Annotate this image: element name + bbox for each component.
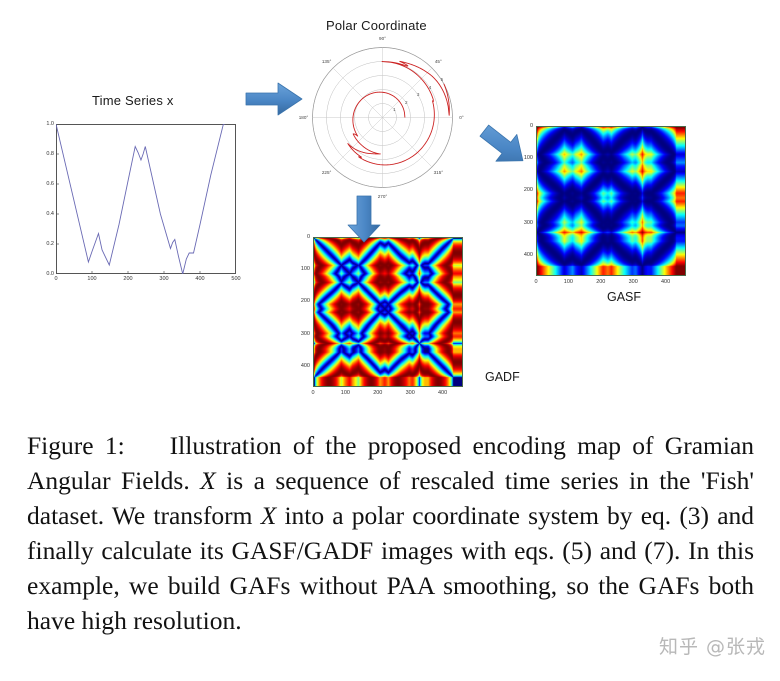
heatmap-xtick: 0 — [524, 279, 548, 285]
polar-angle-tick: 315° — [429, 170, 447, 175]
gasf-label: GASF — [607, 290, 641, 304]
timeseries-ytick: 0.2 — [32, 241, 54, 247]
polar-radial-tick: 4 — [426, 85, 434, 90]
heatmap-ytick: 100 — [291, 266, 310, 272]
timeseries-title: Time Series x — [92, 93, 174, 108]
polar-radial-tick: 5 — [438, 77, 446, 82]
heatmap-xtick: 0 — [301, 390, 325, 396]
heatmap-ytick: 200 — [291, 298, 310, 304]
gadf-canvas — [314, 238, 463, 387]
timeseries-line — [56, 124, 236, 274]
figure-caption: Figure 1: Illustration of the proposed e… — [27, 428, 754, 638]
polar-plot: 0°45°90°135°180°225°270°315°12345 — [305, 40, 460, 195]
watermark: 知乎 @张戎 — [659, 632, 766, 659]
heatmap-ytick: 200 — [514, 187, 533, 193]
arrow-down-icon — [344, 194, 384, 244]
heatmap-xtick: 100 — [333, 390, 357, 396]
polar-angle-tick: 90° — [374, 36, 392, 41]
gadf-heatmap — [313, 237, 463, 387]
heatmap-xtick: 300 — [621, 279, 645, 285]
heatmap-ytick: 300 — [514, 220, 533, 226]
heatmap-ytick: 400 — [291, 363, 310, 369]
figure-illustration: Time Series x 0.00.20.40.60.81.001002003… — [0, 0, 780, 420]
gasf-plot: 01002003004000100200300400 — [536, 126, 686, 276]
polar-radial-tick: 2 — [402, 100, 410, 105]
caption-variable-2: X — [261, 501, 277, 530]
polar-title: Polar Coordinate — [326, 18, 427, 33]
timeseries-xtick: 0 — [44, 276, 68, 282]
timeseries-xtick: 400 — [188, 276, 212, 282]
heatmap-xtick: 400 — [654, 279, 678, 285]
timeseries-ytick: 1.0 — [32, 121, 54, 127]
caption-variable-1: X — [200, 466, 216, 495]
timeseries-plot: 0.00.20.40.60.81.00100200300400500 — [56, 124, 236, 274]
gadf-plot: 01002003004000100200300400 — [313, 237, 463, 387]
polar-angle-tick: 45° — [429, 59, 447, 64]
polar-angle-tick: 135° — [318, 59, 336, 64]
timeseries-xtick: 200 — [116, 276, 140, 282]
timeseries-xtick: 500 — [224, 276, 248, 282]
heatmap-ytick: 300 — [291, 331, 310, 337]
heatmap-xtick: 200 — [366, 390, 390, 396]
timeseries-ytick: 0.4 — [32, 211, 54, 217]
timeseries-ytick: 0.8 — [32, 151, 54, 157]
arrow-down-right-icon — [477, 122, 531, 170]
timeseries-xtick: 300 — [152, 276, 176, 282]
heatmap-xtick: 300 — [398, 390, 422, 396]
gasf-canvas — [537, 127, 686, 276]
gadf-label: GADF — [485, 370, 520, 384]
polar-angle-tick: 0° — [453, 115, 471, 120]
caption-figure-number: Figure 1: — [27, 431, 125, 460]
polar-radial-tick: 3 — [414, 92, 422, 97]
timeseries-xtick: 100 — [80, 276, 104, 282]
gasf-heatmap — [536, 126, 686, 276]
polar-angle-tick: 225° — [318, 170, 336, 175]
heatmap-xtick: 100 — [556, 279, 580, 285]
heatmap-xtick: 400 — [431, 390, 455, 396]
heatmap-ytick: 400 — [514, 252, 533, 258]
timeseries-ytick: 0.6 — [32, 181, 54, 187]
arrow-right-icon — [244, 78, 306, 120]
heatmap-ytick: 0 — [291, 234, 310, 240]
polar-radial-tick: 1 — [390, 107, 398, 112]
heatmap-xtick: 200 — [589, 279, 613, 285]
